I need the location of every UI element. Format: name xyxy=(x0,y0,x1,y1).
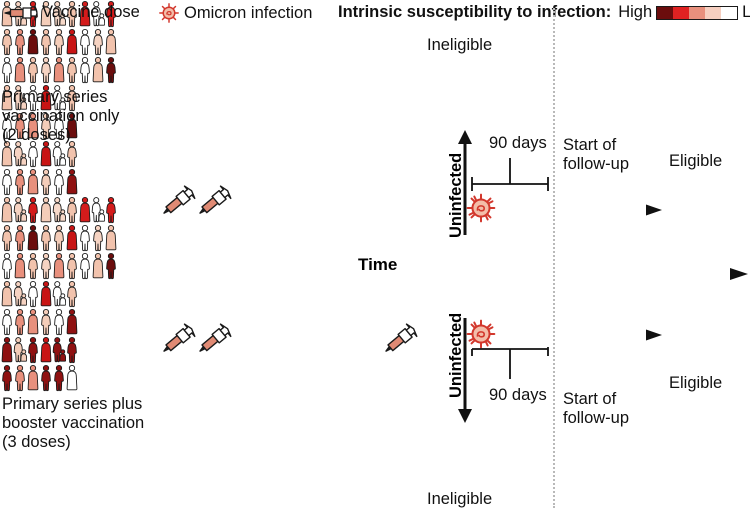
virus-icon xyxy=(158,2,180,24)
person xyxy=(0,28,14,56)
person xyxy=(26,196,40,224)
person xyxy=(13,364,27,392)
person-figure xyxy=(65,196,79,224)
person xyxy=(52,336,66,364)
person-figure xyxy=(65,308,79,336)
person xyxy=(52,168,66,196)
person xyxy=(104,56,118,84)
person-figure xyxy=(39,336,53,364)
person-figure xyxy=(39,168,53,196)
person-figure xyxy=(65,28,79,56)
person xyxy=(52,56,66,84)
legend-item-susceptibility: Intrinsic susceptibility to infection: H… xyxy=(338,3,750,22)
person-figure xyxy=(52,308,66,336)
person-figure xyxy=(104,224,118,252)
person xyxy=(78,196,92,224)
person xyxy=(104,196,118,224)
panel-0-followup-label: Start of follow-up xyxy=(563,136,629,174)
person xyxy=(52,196,66,224)
person-figure xyxy=(39,56,53,84)
person-figure xyxy=(65,364,79,392)
person-figure xyxy=(0,196,14,224)
person-figure xyxy=(13,336,27,364)
person-figure xyxy=(0,364,14,392)
person-figure xyxy=(65,56,79,84)
person xyxy=(91,196,105,224)
person-figure xyxy=(0,336,14,364)
person-figure xyxy=(26,168,40,196)
person-figure xyxy=(65,336,79,364)
person xyxy=(39,28,53,56)
person xyxy=(39,56,53,84)
susceptibility-low-label: Low xyxy=(742,3,750,22)
person-figure xyxy=(26,364,40,392)
person xyxy=(13,28,27,56)
susceptibility-label: Intrinsic susceptibility to infection: xyxy=(338,3,611,22)
person xyxy=(26,364,40,392)
person xyxy=(39,308,53,336)
person xyxy=(91,28,105,56)
person-figure xyxy=(104,196,118,224)
person xyxy=(26,224,40,252)
person xyxy=(104,28,118,56)
gradient-swatch xyxy=(673,7,689,19)
person-figure xyxy=(39,224,53,252)
person xyxy=(0,308,14,336)
person xyxy=(104,224,118,252)
person-figure xyxy=(78,224,92,252)
gradient-swatch xyxy=(721,7,737,19)
person-figure xyxy=(104,28,118,56)
person-figure xyxy=(26,336,40,364)
person xyxy=(65,224,79,252)
person-figure xyxy=(52,168,66,196)
person-figure xyxy=(65,168,79,196)
person-figure xyxy=(52,56,66,84)
legend-item-vaccine: Vaccine dose xyxy=(4,3,140,22)
panel-1-followup-arrow xyxy=(496,328,664,346)
person-figure xyxy=(39,28,53,56)
person xyxy=(0,56,14,84)
people-row xyxy=(0,28,750,56)
person xyxy=(65,308,79,336)
panel-1-window-label: 90 days xyxy=(489,386,547,405)
gradient-swatch xyxy=(705,7,721,19)
person-figure xyxy=(78,196,92,224)
person-figure xyxy=(52,224,66,252)
person-figure xyxy=(0,28,14,56)
person-figure xyxy=(13,28,27,56)
person-figure xyxy=(91,196,105,224)
panel-0-group-label: Primary series vaccination only (2 doses… xyxy=(2,88,119,145)
panel-1-eligible-label: Eligible xyxy=(669,374,722,393)
person xyxy=(0,196,14,224)
person-figure xyxy=(13,308,27,336)
person xyxy=(13,168,27,196)
person xyxy=(39,196,53,224)
person-figure xyxy=(39,196,53,224)
panel-1-dose-icons-primary xyxy=(158,318,238,365)
person xyxy=(78,28,92,56)
panel-1-followup-label: Start of follow-up xyxy=(563,390,629,428)
person-figure xyxy=(26,56,40,84)
person xyxy=(0,168,14,196)
person-figure xyxy=(26,224,40,252)
person xyxy=(39,364,53,392)
person-figure xyxy=(65,224,79,252)
person-figure xyxy=(39,308,53,336)
legend: Vaccine dose Omicron infection Intrinsic… xyxy=(0,0,750,26)
person xyxy=(13,224,27,252)
person-figure xyxy=(26,196,40,224)
person-figure xyxy=(26,308,40,336)
person xyxy=(65,28,79,56)
person-figure xyxy=(52,28,66,56)
person-figure xyxy=(0,168,14,196)
person-figure xyxy=(26,28,40,56)
people-row xyxy=(0,364,750,392)
person xyxy=(65,168,79,196)
susceptibility-gradient xyxy=(656,6,738,20)
panel-0-eligible-label: Eligible xyxy=(669,152,722,171)
person-figure xyxy=(91,56,105,84)
susceptibility-high-label: High xyxy=(618,3,652,22)
followup-dotted-line xyxy=(553,8,555,508)
person xyxy=(52,224,66,252)
people-row xyxy=(0,168,750,196)
gradient-swatch xyxy=(689,7,705,19)
person xyxy=(91,224,105,252)
person xyxy=(65,336,79,364)
time-axis-arrow xyxy=(0,267,750,286)
person xyxy=(39,168,53,196)
person-figure xyxy=(52,336,66,364)
person-figure xyxy=(13,224,27,252)
person xyxy=(65,364,79,392)
person-figure xyxy=(52,196,66,224)
panel-1-ineligible-label: Ineligible xyxy=(427,490,492,509)
legend-item-omicron: Omicron infection xyxy=(158,2,312,24)
person xyxy=(39,224,53,252)
person-figure xyxy=(0,224,14,252)
panel-0-ineligible-label: Ineligible xyxy=(427,36,492,55)
person xyxy=(52,308,66,336)
panel-0-dose-icons xyxy=(158,180,238,227)
person xyxy=(52,28,66,56)
people-row xyxy=(0,224,750,252)
person-figure xyxy=(78,56,92,84)
person xyxy=(13,196,27,224)
person xyxy=(0,336,14,364)
person xyxy=(13,336,27,364)
panel-0-followup-arrow xyxy=(496,203,664,221)
legend-label-omicron: Omicron infection xyxy=(184,4,312,23)
syringe-icon xyxy=(4,4,38,22)
person xyxy=(78,56,92,84)
person xyxy=(65,56,79,84)
person xyxy=(39,336,53,364)
panel-0-window-label: 90 days xyxy=(489,134,547,153)
person xyxy=(26,168,40,196)
person xyxy=(91,56,105,84)
person xyxy=(65,196,79,224)
person xyxy=(0,224,14,252)
people-row xyxy=(0,56,750,84)
person-figure xyxy=(13,196,27,224)
person xyxy=(26,56,40,84)
person-figure xyxy=(91,224,105,252)
person xyxy=(26,28,40,56)
person xyxy=(26,336,40,364)
person-figure xyxy=(13,364,27,392)
person-figure xyxy=(52,364,66,392)
person xyxy=(52,364,66,392)
person-figure xyxy=(104,56,118,84)
gradient-swatch xyxy=(657,7,673,19)
person xyxy=(26,308,40,336)
panel-1-group-label: Primary series plus booster vaccination … xyxy=(2,395,144,452)
panel-0-eligible-people xyxy=(0,140,750,196)
panel-1-dose-icon-booster xyxy=(380,318,424,365)
person-figure xyxy=(91,28,105,56)
person xyxy=(13,308,27,336)
person-figure xyxy=(13,56,27,84)
person-figure xyxy=(0,308,14,336)
legend-label-vaccine: Vaccine dose xyxy=(42,3,140,22)
person-figure xyxy=(78,28,92,56)
person xyxy=(78,224,92,252)
person xyxy=(0,364,14,392)
person xyxy=(13,56,27,84)
person-figure xyxy=(39,364,53,392)
person-figure xyxy=(13,168,27,196)
panel-0-virus-icon xyxy=(465,192,497,229)
person-figure xyxy=(0,56,14,84)
